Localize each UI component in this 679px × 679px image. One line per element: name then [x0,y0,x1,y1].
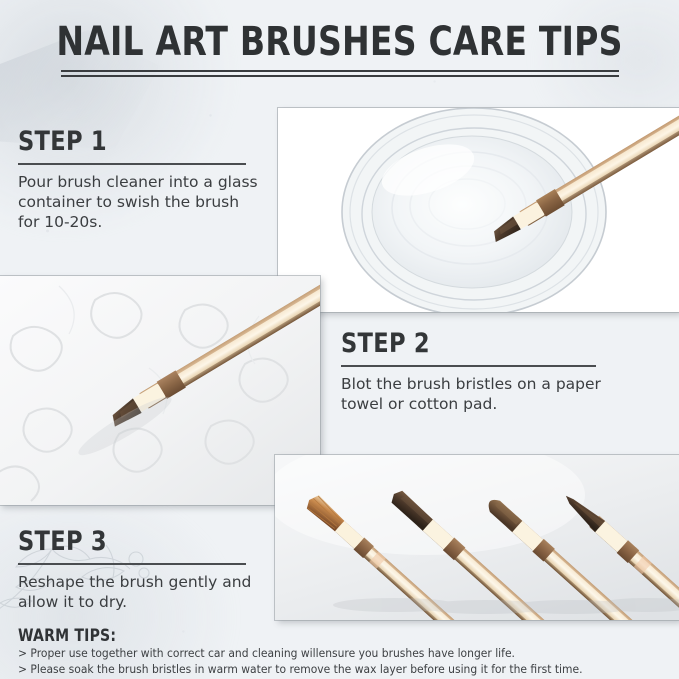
title-underline-rule-1 [61,70,619,72]
step-3-heading: STEP 3 [18,528,241,556]
step-1-body: Pour brush cleaner into a glass containe… [18,172,258,232]
photo-step-2-paper-towel [0,276,320,505]
warm-tips-line-2: > Please soak the brush bristles in warm… [18,662,632,678]
step-1-card: STEP 1 Pour brush cleaner into a glass c… [18,128,258,232]
paper-towel-illustration [0,276,320,505]
step-1-divider [18,163,246,165]
step-1-heading: STEP 1 [18,128,241,156]
page-title-block: NAIL ART BRUSHES CARE TIPS [0,22,679,77]
step-3-card: STEP 3 Reshape the brush gently and allo… [18,528,258,612]
step-2-body: Blot the brush bristles on a paper towel… [341,374,603,414]
warm-tips-line-1: > Proper use together with correct car a… [18,646,632,662]
infographic-page: NAIL ART BRUSHES CARE TIPS [0,0,679,679]
warm-tips-section: WARM TIPS: > Proper use together with co… [18,626,658,678]
step-3-divider [18,563,246,565]
warm-tips-heading: WARM TIPS: [18,626,607,646]
photo-step-3-four-brushes [275,455,679,620]
title-underline [61,70,619,77]
glass-bowl-illustration [278,108,679,312]
page-title: NAIL ART BRUSHES CARE TIPS [27,22,652,62]
step-2-heading: STEP 2 [341,330,585,358]
step-2-card: STEP 2 Blot the brush bristles on a pape… [341,330,603,414]
title-underline-rule-2 [61,75,619,77]
step-2-divider [341,365,596,367]
photo-step-1-glass-bowl [278,108,679,312]
step-3-body: Reshape the brush gently and allow it to… [18,572,258,612]
four-brushes-illustration [275,455,679,620]
